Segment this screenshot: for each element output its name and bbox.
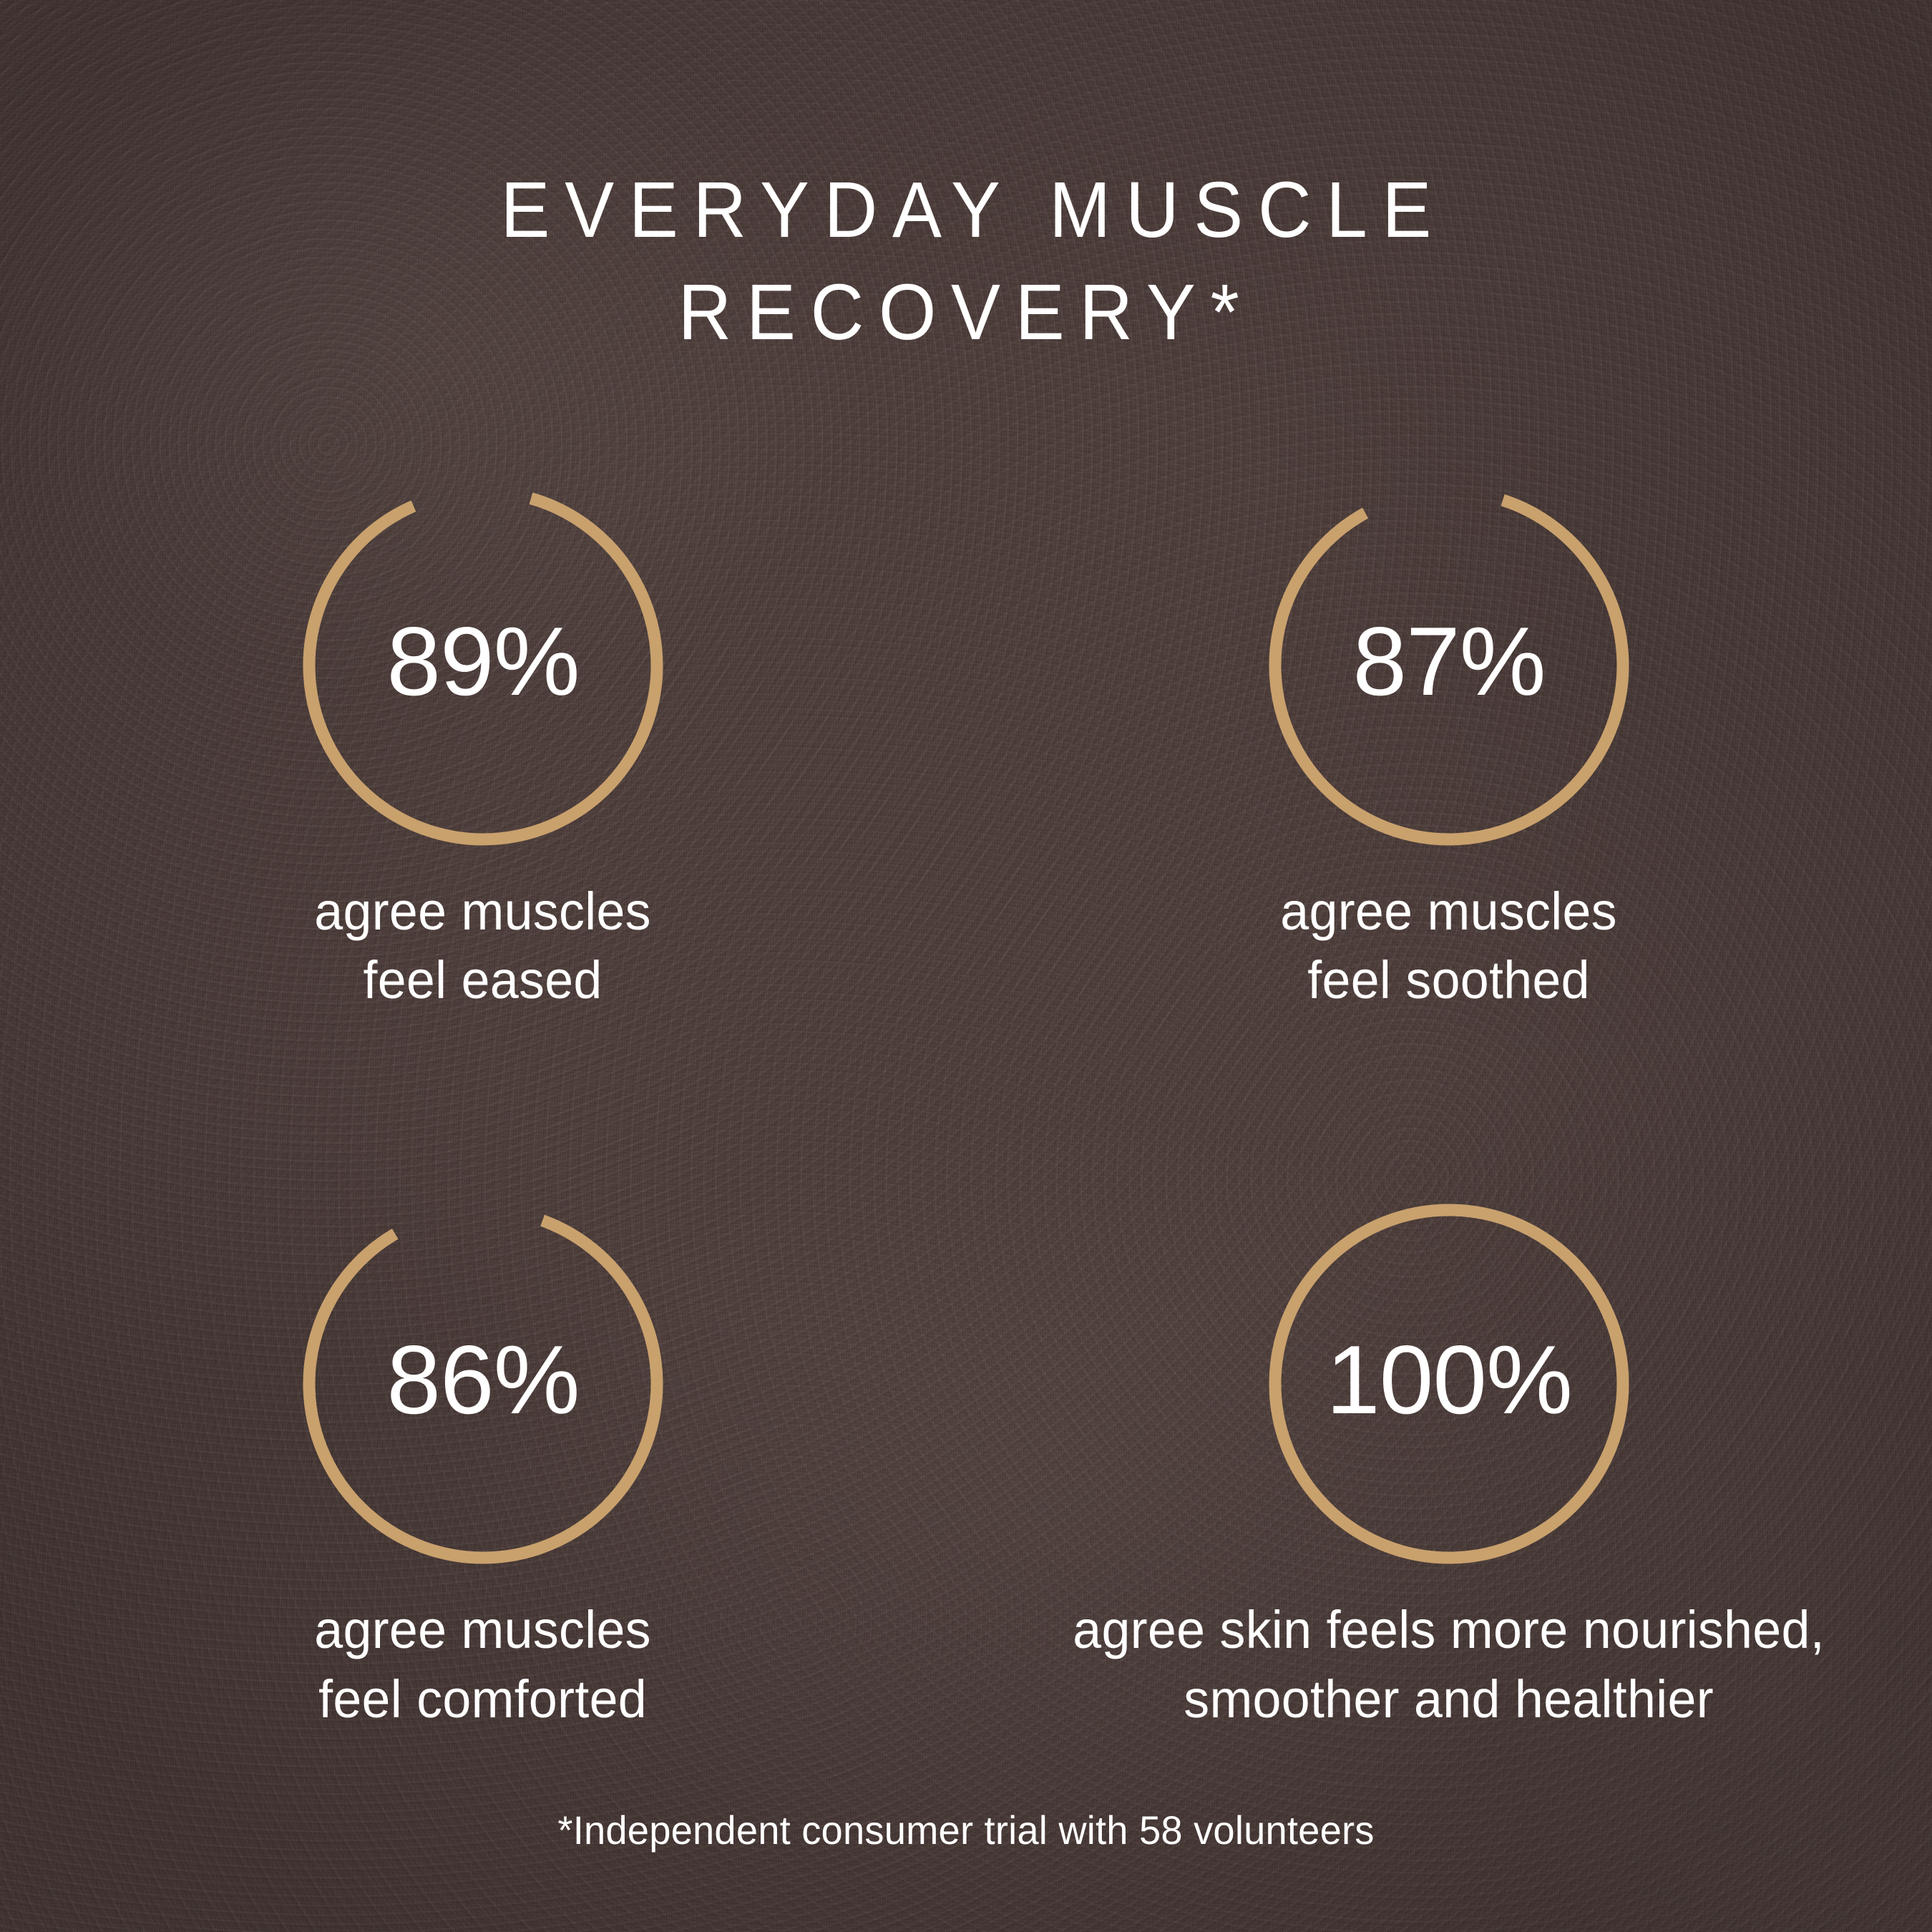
stats-row-1: 89% agree muscles feel eased 87% agree m… [0, 472, 1932, 1015]
progress-ring-100: 100% [1256, 1191, 1642, 1577]
footnote-trial-disclaimer: *Independent consumer trial with 58 volu… [29, 1807, 1903, 1853]
stat-caption-89: agree muscles feel eased [315, 877, 652, 1015]
stats-grid: 89% agree muscles feel eased 87% agree m… [0, 472, 1932, 1734]
progress-ring-87: 87% [1256, 472, 1642, 859]
stat-caption-86: agree muscles feel comforted [315, 1596, 652, 1733]
stat-card-muscles-comforted: 86% agree muscles feel comforted [0, 1191, 966, 1733]
stat-caption-100: agree skin feels more nourished, smoothe… [1073, 1596, 1825, 1733]
infographic-card: EVERYDAY MUSCLE RECOVERY* 89% agree musc… [0, 0, 1932, 1932]
stat-value-86: 86% [290, 1186, 676, 1573]
stat-card-skin-nourished: 100% agree skin feels more nourished, sm… [966, 1191, 1932, 1733]
stat-value-87: 87% [1256, 468, 1642, 854]
stat-caption-87: agree muscles feel soothed [1281, 877, 1618, 1015]
stat-card-muscles-soothed: 87% agree muscles feel soothed [966, 472, 1932, 1015]
stat-value-100: 100% [1256, 1186, 1642, 1573]
stat-card-muscles-eased: 89% agree muscles feel eased [0, 472, 966, 1015]
stat-value-89: 89% [290, 468, 676, 854]
progress-ring-89: 89% [290, 472, 676, 859]
page-title: EVERYDAY MUSCLE RECOVERY* [58, 159, 1874, 364]
stats-row-2: 86% agree muscles feel comforted 100% ag… [0, 1191, 1932, 1733]
progress-ring-86: 86% [290, 1191, 676, 1577]
